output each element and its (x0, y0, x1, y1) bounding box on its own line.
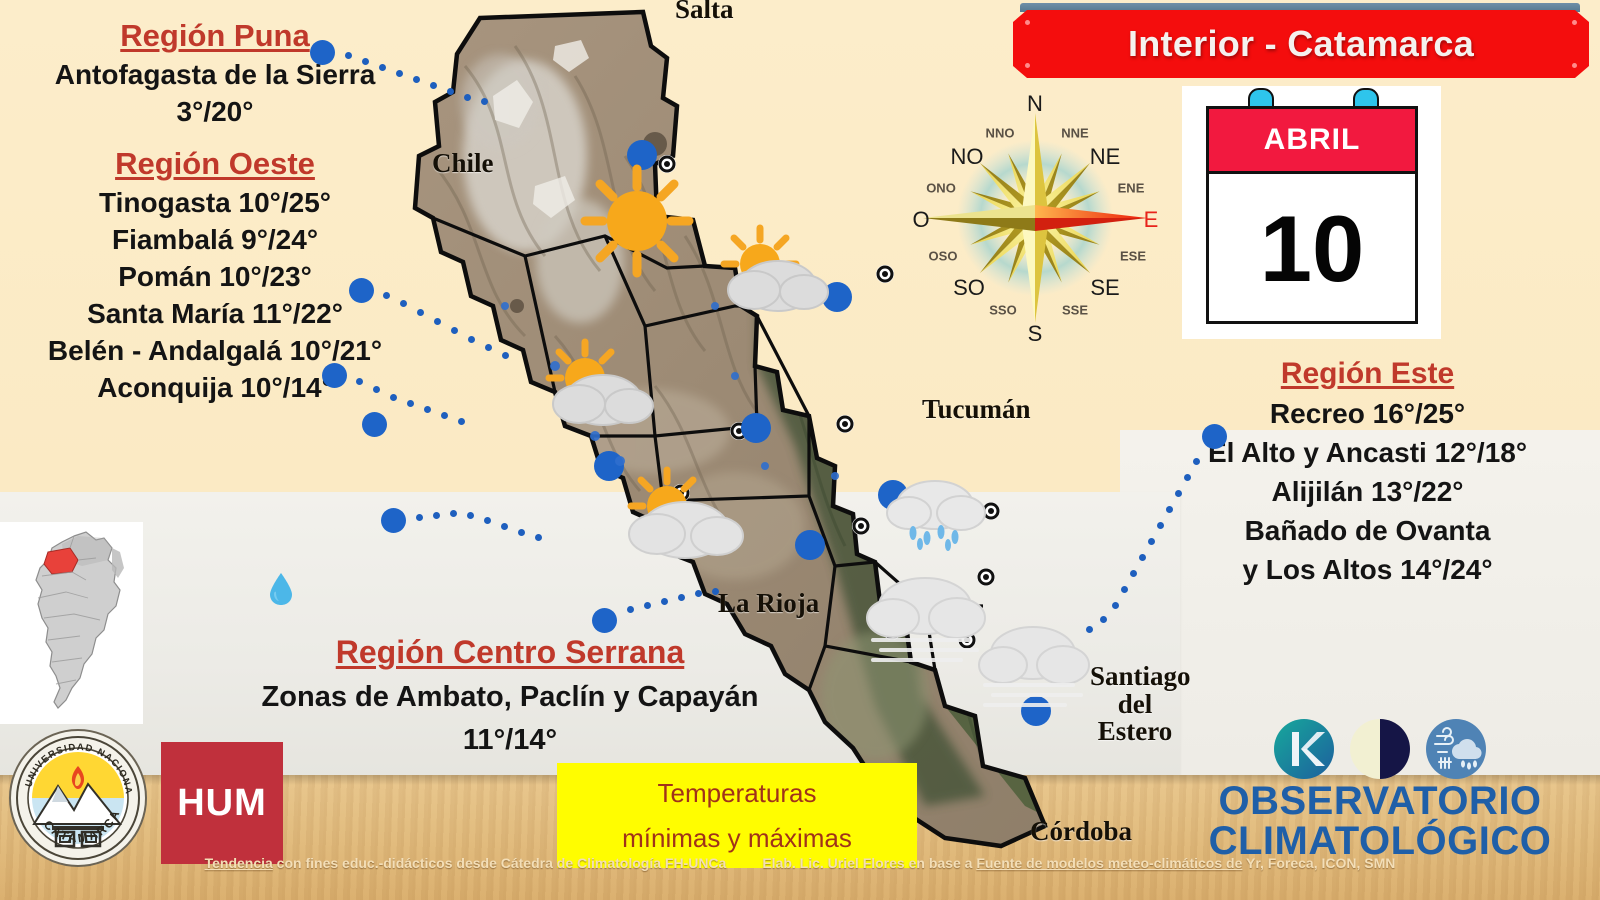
legend-temperatures-box: Temperaturas mínimas y máximas (557, 763, 917, 868)
region-title-puna: Región Puna (0, 18, 430, 54)
marker-dot-puna (310, 40, 335, 65)
marker-dot-santa-maria (362, 412, 387, 437)
left-text-column: Región Puna Antofagasta de la Sierra 3°/… (0, 14, 430, 409)
banner-screw-icon (1572, 20, 1577, 25)
calendar-widget: ABRIL 10 (1206, 106, 1418, 324)
region-title-oeste: Región Oeste (0, 146, 430, 182)
region-row-este-0: Recreo 16°/25° (1135, 398, 1600, 430)
province-label-salta: Salta (675, 0, 734, 24)
weather-icon-fog (979, 627, 1089, 705)
compass-rose: N NNO NNE NO NE ONO ENE O E OSO ESE SO S… (905, 88, 1165, 348)
compass-label-ne: NE (1090, 144, 1121, 170)
compass-label-ono: ONO (926, 181, 956, 196)
compass-label-oso: OSO (929, 249, 958, 264)
compass-label-s: S (1028, 321, 1043, 347)
weather-symbols-icon (1425, 718, 1487, 780)
marker-dot-belen (381, 508, 406, 533)
marker-dot-este (1202, 424, 1227, 449)
compass-label-nne: NNE (1061, 126, 1088, 141)
marker-dot-poman (322, 363, 347, 388)
compass-label-n: N (1027, 91, 1043, 117)
compass-label-e: E (1144, 207, 1159, 233)
region-row-oeste-1: Fiambalá 9°/24° (0, 224, 430, 256)
compass-label-no: NO (951, 144, 984, 170)
infographic-canvas: Salta Chile Tucumán La Rioja Santiago de… (0, 0, 1600, 900)
province-label-cordoba: Córdoba (1030, 818, 1132, 846)
credits-right-pre: Elab. Lic. Uriel Flores en base a (762, 855, 976, 871)
legend-line-1: Temperaturas (658, 778, 817, 809)
credits-left-rest: con fines educ.-didácticos desde Cátedra… (273, 855, 727, 871)
k-monogram-icon (1273, 718, 1335, 780)
compass-label-sso: SSO (989, 303, 1016, 318)
region-title-este: Región Este (1135, 357, 1600, 391)
moon-phase-icon (1349, 718, 1411, 780)
compass-label-ese: ESE (1120, 249, 1146, 264)
marker-dot-centro (592, 608, 617, 633)
observatorio-climatologico-logo: OBSERVATORIO CLIMATOLÓGICO (1180, 718, 1580, 868)
banner-screw-icon (1025, 20, 1030, 25)
banner-title-text: Interior - Catamarca (1128, 23, 1474, 65)
region-title-centro-serrana: Región Centro Serrana (150, 634, 870, 671)
region-row-puna-1: 3°/20° (0, 96, 430, 128)
province-label-tucuman: Tucumán (922, 396, 1031, 424)
province-label-chile: Chile (432, 150, 494, 178)
credits-right-underlined: Fuente de modelos meteo-climáticos de (976, 855, 1242, 871)
banner-screw-icon (1025, 63, 1030, 68)
legend-line-2: mínimas y máximas (622, 823, 852, 854)
region-row-centro-0: Zonas de Ambato, Paclín y Capayán (150, 681, 870, 714)
title-banner: Interior - Catamarca (1013, 10, 1589, 78)
region-row-oeste-4: Belén - Andalgalá 10°/21° (0, 335, 430, 367)
observatorio-icon-row (1180, 718, 1580, 780)
region-row-este-3: Bañado de Ovanta (1135, 515, 1600, 547)
region-row-oeste-5: Aconquija 10°/14° (0, 372, 430, 404)
right-text-column: Región Este Recreo 16°/25° El Alto y Anc… (1135, 355, 1600, 593)
calendar-month-header: ABRIL (1209, 109, 1415, 174)
calendar-day-body: 10 (1209, 174, 1415, 324)
region-row-este-2: Alijilán 13°/22° (1135, 476, 1600, 508)
compass-label-se: SE (1090, 275, 1119, 301)
compass-label-so: SO (953, 275, 985, 301)
compass-label-ene: ENE (1118, 181, 1145, 196)
province-label-la-rioja: La Rioja (718, 590, 819, 618)
compass-label-nno: NNO (986, 126, 1015, 141)
calendar-month-label: ABRIL (1264, 123, 1361, 157)
region-row-oeste-3: Santa María 11°/22° (0, 298, 430, 330)
water-droplet-icon (268, 572, 294, 606)
credits-line: Tendencia con fines educ.-didácticos des… (0, 855, 1600, 871)
weather-icon-sun (585, 169, 689, 273)
hum-logo: HUM (161, 742, 283, 864)
observatorio-line-1: OBSERVATORIO (1180, 782, 1580, 820)
compass-label-sse: SSE (1062, 303, 1088, 318)
province-label-santiago-del-estero: Santiago del Estero (1090, 663, 1180, 746)
credits-left-underlined: Tendencia (205, 855, 273, 871)
calendar-day-number: 10 (1260, 202, 1365, 296)
unca-logo: UNIVERSIDAD NACIONAL DE CATAMARCA (8, 728, 148, 868)
hum-logo-text: HUM (177, 782, 267, 825)
region-row-este-4: y Los Altos 14°/24° (1135, 554, 1600, 586)
weather-icon-sun-cloud (724, 228, 828, 311)
marker-dot-oeste-north (349, 278, 374, 303)
region-row-oeste-0: Tinogasta 10°/25° (0, 187, 430, 219)
banner-screw-icon (1572, 63, 1577, 68)
compass-label-o: O (912, 207, 929, 233)
argentina-inset-map (0, 522, 143, 724)
credits-right-rest: Yr, Foreca, ICON, SMN (1242, 855, 1395, 871)
